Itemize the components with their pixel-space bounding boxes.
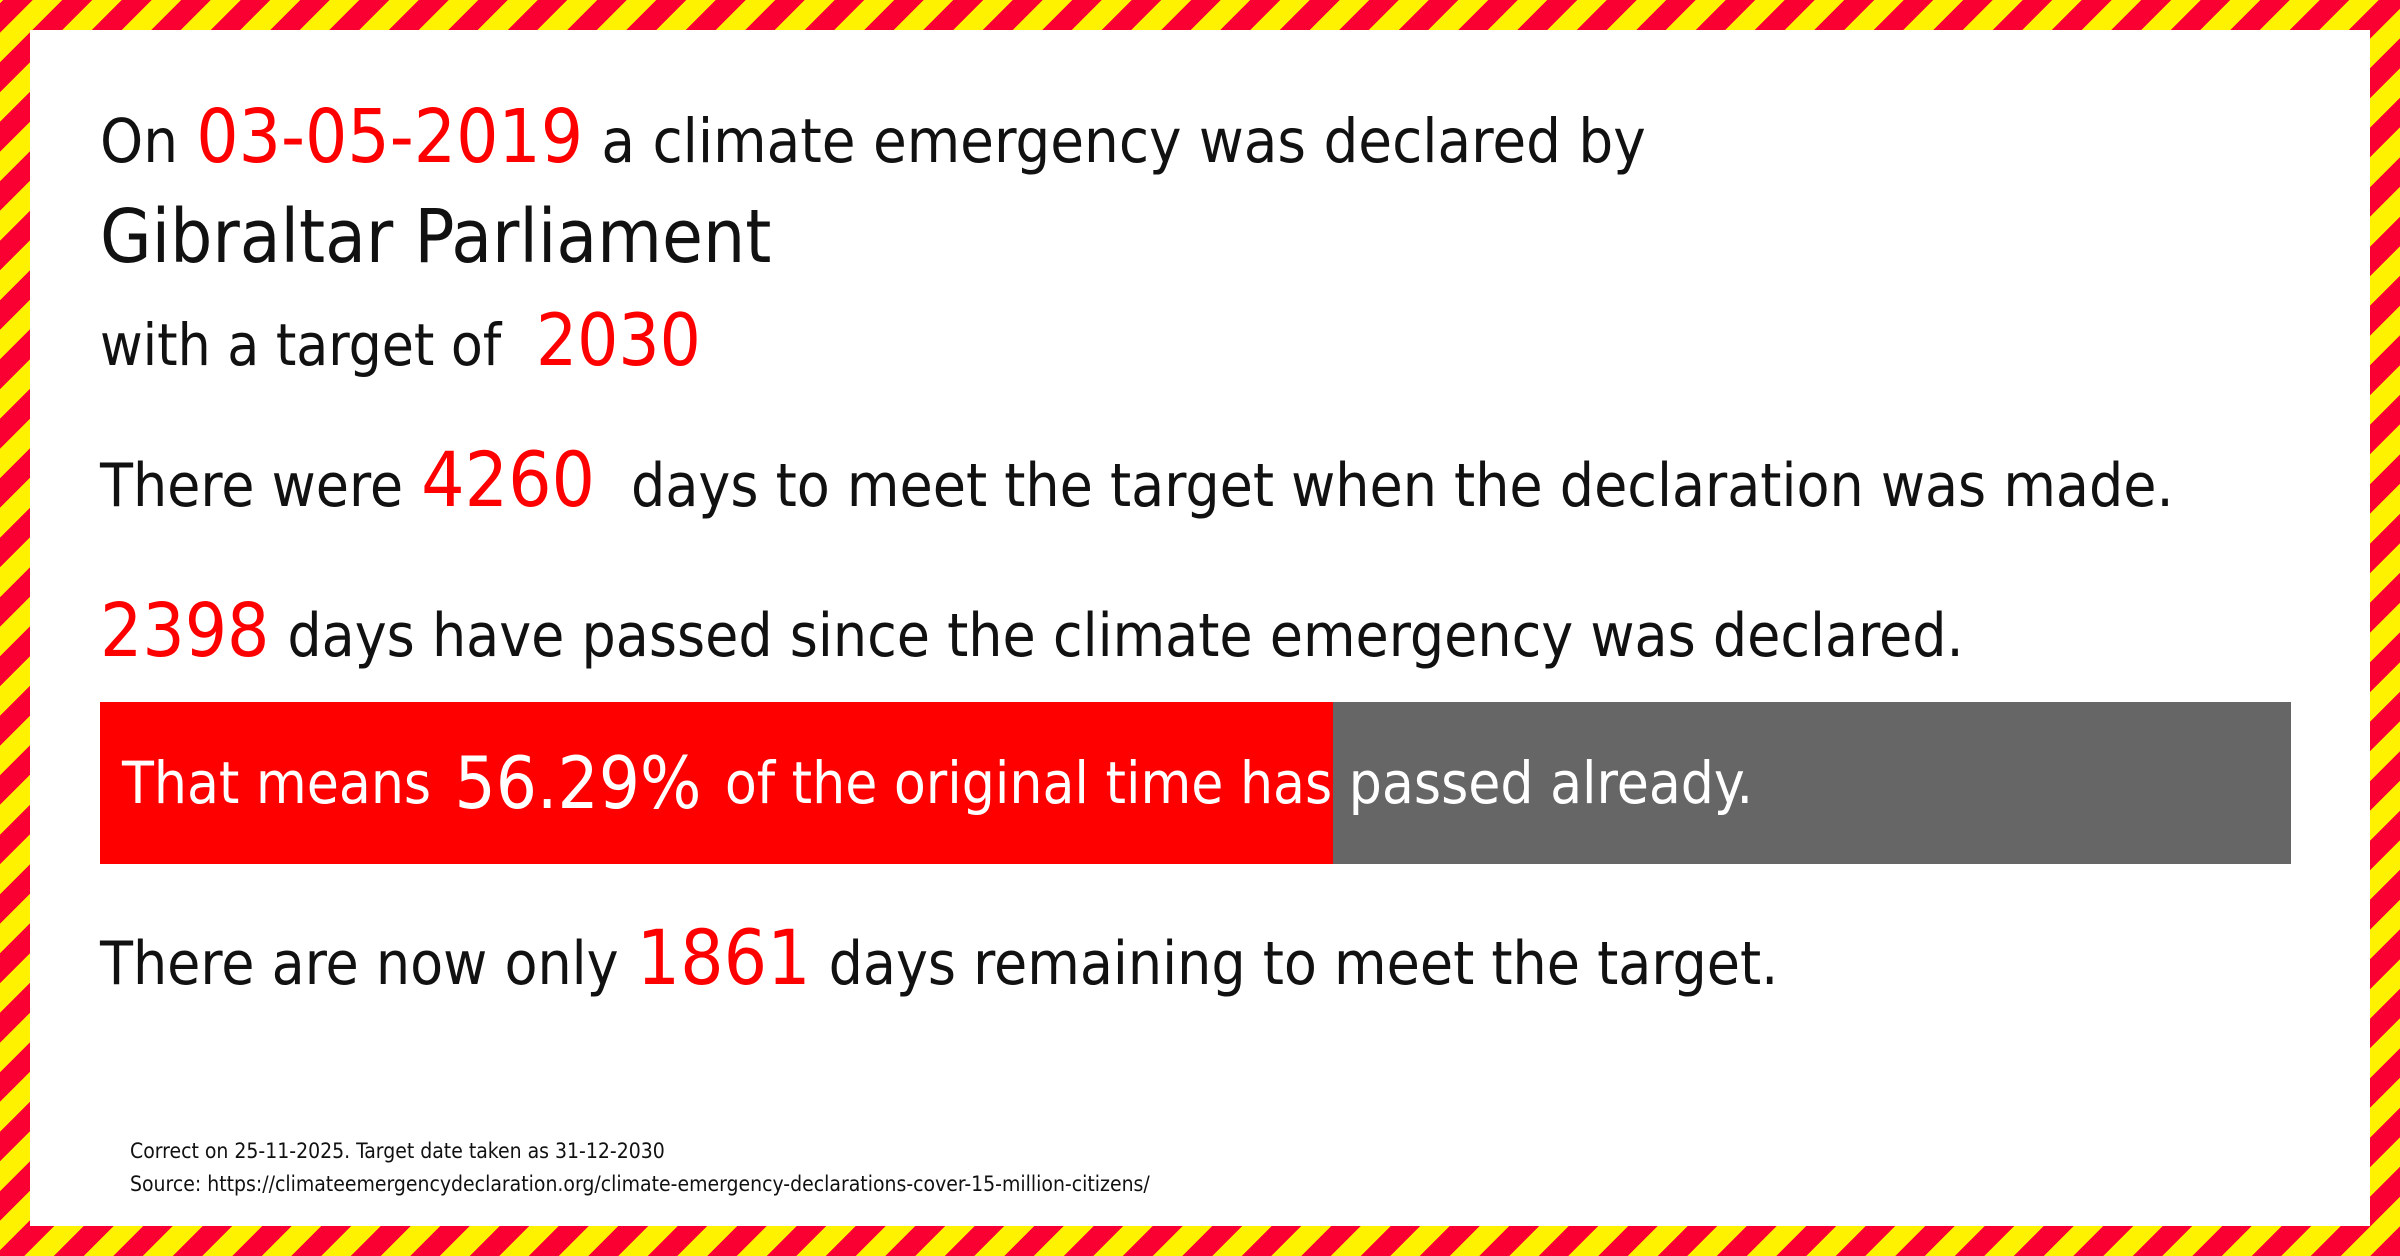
were-prefix: There were [100,451,403,521]
declaration-prefix: On [100,106,178,177]
footer-source: Source: https://climateemergencydeclarat… [130,1168,1150,1201]
progress-suffix: of the original time has passed already. [725,749,1753,817]
target-line: with a target of2030 [100,304,2330,376]
remaining-suffix: days remaining to meet the target. [829,929,1779,999]
content-panel: On03-05-2019a climate emergency was decl… [30,30,2370,1226]
progress-bar: That means56.29%of the original time has… [100,702,2291,864]
days-remaining-line: There are now only1861days remaining to … [100,920,2330,996]
days-passed-line: 2398days have passed since the climate e… [100,594,2330,668]
were-suffix: days to meet the target when the declara… [631,451,2174,521]
declaration-date: 03-05-2019 [196,94,583,180]
content-stack: On03-05-2019a climate emergency was decl… [100,78,2330,996]
days-passed-value: 2398 [100,588,269,674]
organisation-name: Gibraltar Parliament [100,200,2330,274]
days-remaining-value: 1861 [637,913,811,1002]
progress-bar-label: That means56.29%of the original time has… [100,702,2291,864]
target-prefix: with a target of [100,311,501,379]
progress-prefix: That means [122,749,431,817]
hazard-border-card: On03-05-2019a climate emergency was decl… [0,0,2400,1256]
footer-notes: Correct on 25-11-2025. Target date taken… [130,1135,1150,1200]
remaining-prefix: There are now only [100,929,619,999]
days-to-target-line: There were4260days to meet the target wh… [100,442,2330,518]
days-to-target-value: 4260 [421,435,595,524]
declaration-suffix: a climate emergency was declared by [601,106,1645,177]
declaration-line: On03-05-2019a climate emergency was decl… [100,100,2330,174]
passed-suffix: days have passed since the climate emerg… [287,601,1963,671]
progress-percent: 56.29% [449,741,708,825]
footer-correct-on: Correct on 25-11-2025. Target date taken… [130,1135,1150,1168]
target-year: 2030 [536,298,701,382]
